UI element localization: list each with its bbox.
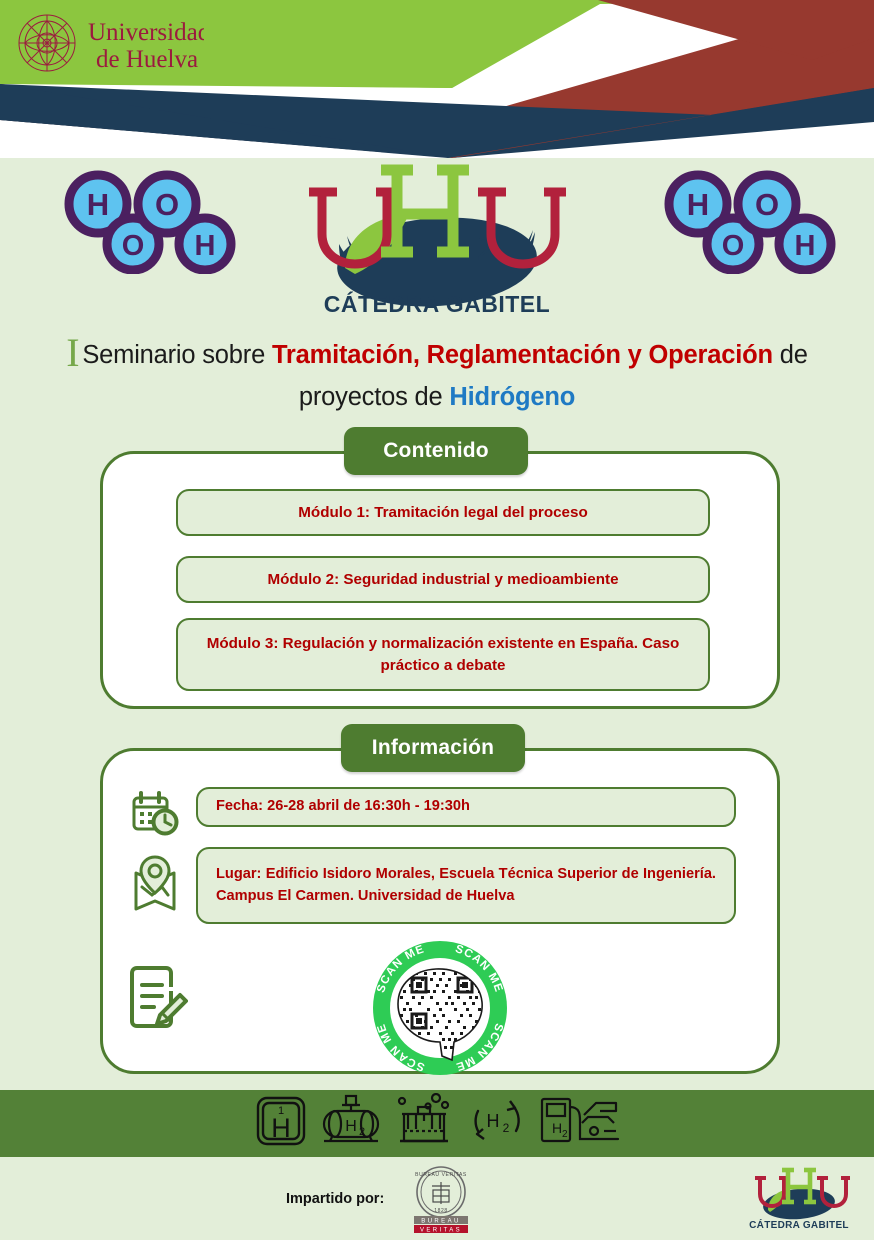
module-1-box: Módulo 1: Tramitación legal del proceso (176, 489, 710, 536)
poster-root: H O O H H O O H (0, 0, 874, 1240)
svg-text:H: H (687, 187, 709, 222)
svg-text:O: O (722, 230, 745, 262)
bureau-line1: BUREAU (421, 1219, 460, 1225)
informacion-pill: Información (341, 724, 525, 772)
svg-text:BUREAU VERITAS: BUREAU VERITAS (415, 1172, 467, 1178)
water-molecule-right: H O O H (655, 166, 855, 279)
svg-text:O: O (122, 230, 145, 262)
hydrogen-fuel-station-icon: H 2 (536, 1093, 622, 1154)
svg-text:2: 2 (359, 1126, 365, 1138)
hydrogen-element-icon: 1 H (252, 1093, 310, 1154)
universidad-line1: Universidad (88, 19, 204, 46)
universidad-huelva-logo: Universidad de Huelva (14, 10, 204, 81)
svg-text:2: 2 (562, 1129, 568, 1140)
catedra-gabitel-logo: 2 CÁTEDRA GABITEL (277, 158, 597, 320)
date-info-box: Fecha: 26-28 abril de 16:30h - 19:30h (196, 787, 736, 827)
water-molecule-left: H O O H (55, 166, 255, 279)
svg-text:H: H (795, 230, 816, 262)
universidad-line2: de Huelva (96, 46, 198, 73)
module-3-box: Módulo 3: Regulación y normalización exi… (176, 618, 710, 691)
electrolysis-beaker-icon (392, 1093, 458, 1154)
title-highlight1: Tramitación, Reglamentación y Operación (272, 341, 773, 369)
svg-text:H: H (552, 1120, 562, 1136)
calendar-clock-icon (128, 787, 180, 844)
title-highlight2: Hidrógeno (449, 383, 575, 411)
hydrogen-tank-icon: H 2 (318, 1093, 384, 1154)
logo-caption: CÁTEDRA GABITEL (324, 290, 550, 317)
svg-text:H: H (345, 1118, 357, 1135)
svg-text:H: H (87, 187, 109, 222)
svg-text:O: O (755, 187, 779, 222)
place-info-box: Lugar: Edificio Isidoro Morales, Escuela… (196, 847, 736, 924)
title-roman-numeral: I (66, 330, 82, 375)
svg-text:H: H (271, 1113, 291, 1143)
contenido-pill: Contenido (344, 427, 528, 475)
qr-code-scan-me[interactable]: SCAN ME SCAN ME SCAN ME SCAN ME (370, 938, 510, 1078)
bureau-line2: VERITAS (420, 1228, 462, 1234)
title-part1: Seminario sobre (82, 341, 272, 369)
svg-text:1828: 1828 (434, 1208, 448, 1214)
map-pin-icon (128, 855, 182, 920)
svg-text:H: H (487, 1111, 500, 1131)
hydrogen-recycle-icon: H 2 (466, 1093, 528, 1154)
registration-form-icon (124, 963, 188, 1038)
svg-text:O: O (155, 187, 179, 222)
module-2-box: Módulo 2: Seguridad industrial y medioam… (176, 556, 710, 603)
gabitel-caption: CÁTEDRA GABITEL (749, 1218, 849, 1231)
gabitel-footer-logo: 2 CÁTEDRA GABITEL (744, 1166, 854, 1237)
hydrogen-icon-band: 1 H H 2 (0, 1090, 874, 1157)
page-title: ISeminario sobre Tramitación, Reglamenta… (28, 326, 846, 414)
bureau-veritas-logo: BUREAU VERITAS 1828 BUREAU VERITAS (408, 1166, 474, 1239)
imparted-by-label: Impartido por: (286, 1191, 384, 1207)
svg-text:H: H (195, 230, 216, 262)
svg-text:2: 2 (503, 1121, 510, 1135)
